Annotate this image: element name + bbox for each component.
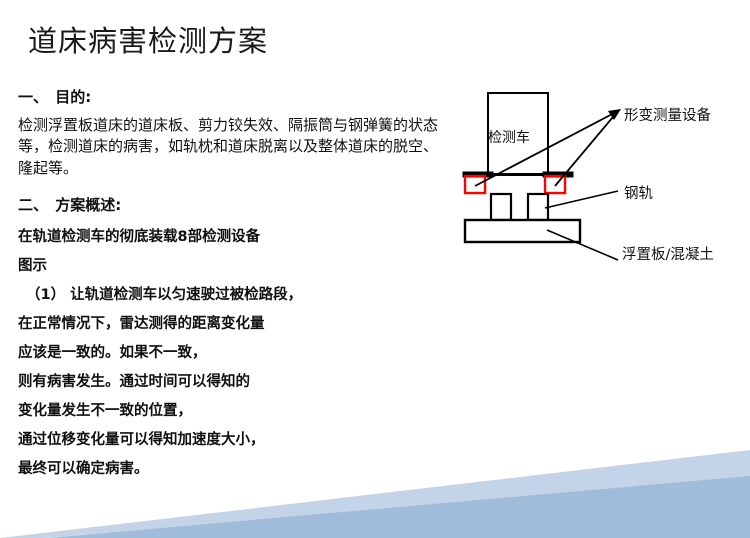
label-floating-slab: 浮置板/混凝土 [622,243,714,264]
slide-canvas: 道床病害检测方案 一、 目的: 检测浮置板道床的道床板、剪力铰失效、隔振筒与钢弹… [0,0,750,538]
inspection-vehicle-label: 检测车 [488,127,530,147]
rail-block-right [528,194,548,220]
section-overview-heading: 二、 方案概述: [18,196,448,216]
decorative-band-dark [48,476,750,538]
overview-line: 应该是一致的。如果不一致， [18,338,448,367]
overview-line: 图示 [18,251,448,280]
overview-line: 在正常情况下，雷达测得的距离变化量 [18,309,448,338]
overview-line: （1） 让轨道检测车以匀速驶过被检路段， [18,280,448,309]
overview-line: 则有病害发生。通过时间可以得知的 [18,367,448,396]
page-title: 道床病害检测方案 [28,18,268,60]
overview-line: 在轨道检测车的彻底装载8部检测设备 [18,222,448,251]
overview-line: 最终可以确定病害。 [18,454,448,483]
leader-line-slab [547,230,618,260]
content-column: 一、 目的: 检测浮置板道床的道床板、剪力铰失效、隔振筒与钢弹簧的状态等，检测道… [18,88,448,483]
section-goal-label: 目的: [55,88,91,106]
section-overview-number: 二、 [18,196,48,214]
section-goal-number: 一、 [18,88,48,106]
section-goal-body: 检测浮置板道床的道床板、剪力铰失效、隔振筒与钢弹簧的状态等，检测道床的病害，如轨… [18,115,438,180]
label-rail: 钢轨 [624,182,653,203]
label-deformation-device: 形变测量设备 [624,104,711,125]
overview-line: 变化量发生不一致的位置， [18,396,448,425]
track-inspection-diagram: 检测车 形变测量设备 钢轨 浮置板/混凝土 [455,78,750,278]
leader-line-sensor-right [555,111,618,186]
section-overview-label: 方案概述: [55,196,121,214]
section-goal-heading: 一、 目的: [18,88,448,108]
rail-block-left [491,194,511,220]
overview-line: 通过位移变化量可以得知加速度大小， [18,425,448,454]
sensor-box-left [465,176,485,193]
floating-slab [465,220,580,242]
